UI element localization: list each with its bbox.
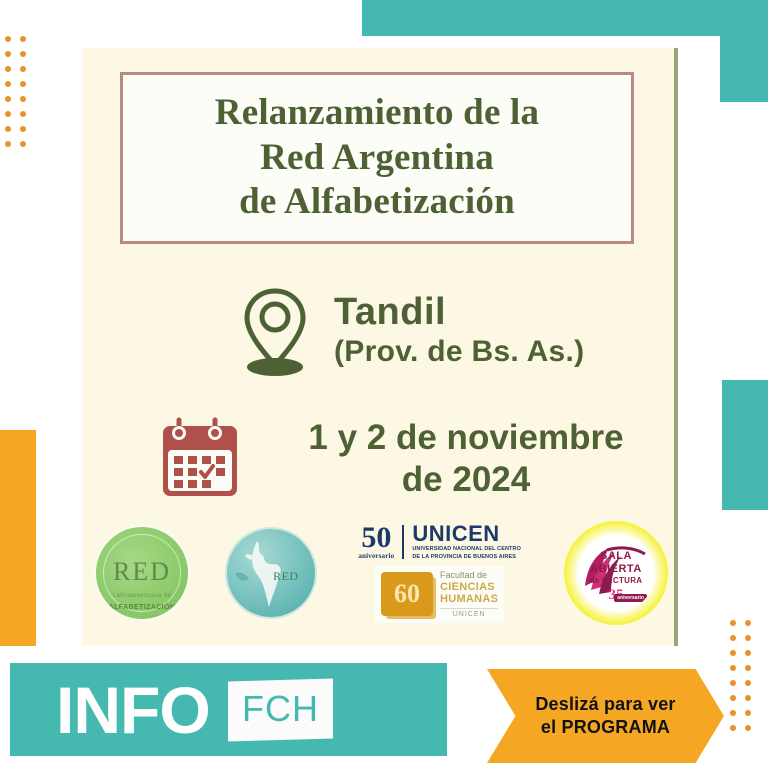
cta-line-2: el PROGRAMA (541, 716, 670, 739)
info-bar: INFO FCH (10, 663, 447, 756)
fch-line-4: UNICEN (440, 608, 498, 619)
dot (5, 81, 11, 87)
fch-60-number: 60 (381, 572, 433, 616)
sala-aniversario-label: aniversario (614, 594, 647, 602)
dot (745, 665, 751, 671)
dot (730, 650, 736, 656)
location-province: (Prov. de Bs. As.) (334, 335, 584, 370)
dot (20, 141, 26, 147)
dot (745, 650, 751, 656)
unicen-logo-row: 50 aniversario UNICEN UNIVERSIDAD NACION… (358, 523, 521, 560)
unicen-fullname-line-2: DE LA PROVINCIA DE BUENOS AIRES (412, 555, 521, 561)
dot (745, 680, 751, 686)
dot (745, 725, 751, 731)
dot (730, 620, 736, 626)
dot (730, 695, 736, 701)
location-text: Tandil (Prov. de Bs. As.) (334, 293, 584, 369)
red-logo-word: RED (96, 557, 188, 587)
dot (5, 96, 11, 102)
dot (730, 665, 736, 671)
dot (5, 111, 11, 117)
unicen-fullname-line-1: UNIVERSIDAD NACIONAL DEL CENTRO (412, 547, 521, 553)
dot (730, 635, 736, 641)
poster-canvas: Relanzamiento de la Red Argentina de Alf… (0, 0, 768, 768)
dot-grid-bottom-right (730, 620, 751, 731)
dot (20, 36, 26, 42)
fch-text: Facultad de CIENCIAS HUMANAS UNICEN (440, 570, 498, 619)
sala-line-3: de LECTURA (577, 576, 655, 585)
dot (730, 680, 736, 686)
map-pin-icon (232, 285, 318, 377)
dot (730, 710, 736, 716)
unicen-50-number: 50 (361, 524, 391, 551)
logo-strip: RED Latinoamericana de ALFABETIZACIÓN RE… (96, 510, 668, 636)
date-line-1: 1 y 2 de noviembre (260, 417, 672, 459)
calendar-icon (152, 416, 248, 502)
dot (20, 96, 26, 102)
dot-grid-top-left (5, 36, 26, 147)
date-row: 1 y 2 de noviembre de 2024 (152, 404, 672, 514)
dot (20, 66, 26, 72)
facultad-ciencias-humanas-logo: 60 Facultad de CIENCIAS HUMANAS UNICEN (375, 566, 504, 623)
dot (745, 695, 751, 701)
location-city: Tandil (334, 293, 584, 333)
dot (20, 126, 26, 132)
date-text: 1 y 2 de noviembre de 2024 (260, 417, 672, 501)
title-box: Relanzamiento de la Red Argentina de Alf… (120, 72, 634, 244)
dot (745, 620, 751, 626)
page-title-line-3: de Alfabetización (239, 180, 515, 224)
sala-logo-inner: SALA ABIERTA de LECTURA 35 aniversario (577, 534, 655, 612)
orange-left-block (0, 430, 36, 646)
dot (20, 111, 26, 117)
dot (20, 51, 26, 57)
fch-line-1: Facultad de (440, 570, 498, 580)
unicen-logo: 50 aniversario UNICEN UNIVERSIDAD NACION… (355, 523, 525, 623)
red-logo-subtitle-bottom: ALFABETIZACIÓN (96, 604, 188, 611)
teal-right-block (720, 0, 768, 102)
red-logo-subtitle-top: Latinoamericana de (96, 593, 188, 599)
sala-line-2: ABIERTA (577, 563, 655, 575)
page-title-line-1: Relanzamiento de la (215, 91, 539, 135)
dot (730, 725, 736, 731)
red-mapa-logo: RED (227, 529, 315, 617)
swipe-cta-banner[interactable]: Deslizá para ver el PROGRAMA (487, 669, 724, 763)
fch-line-3: HUMANAS (440, 593, 498, 606)
red-alfabetizacion-logo: RED Latinoamericana de ALFABETIZACIÓN (96, 527, 188, 619)
red-mapa-word: RED (273, 569, 299, 584)
unicen-aniversario-label: aniversario (358, 553, 394, 559)
unicen-name: UNICEN UNIVERSIDAD NACIONAL DEL CENTRO D… (412, 523, 521, 560)
unicen-divider (402, 525, 404, 559)
dot (5, 51, 11, 57)
info-label: INFO (56, 672, 210, 748)
cta-line-1: Deslizá para ver (535, 693, 675, 716)
fch-line-2: CIENCIAS (440, 581, 498, 594)
page-title-line-2: Red Argentina (260, 136, 494, 180)
dot (5, 126, 11, 132)
teal-top-block (362, 0, 768, 36)
dot (5, 141, 11, 147)
unicen-acronym: UNICEN (412, 523, 521, 545)
dot (745, 710, 751, 716)
fch-badge: FCH (228, 678, 333, 741)
sala-line-1: SALA (577, 550, 655, 562)
dot (5, 36, 11, 42)
date-line-2: de 2024 (260, 459, 672, 501)
location-row: Tandil (Prov. de Bs. As.) (232, 276, 652, 386)
teal-right-lower-block (722, 380, 768, 510)
unicen-anniversary: 50 aniversario (358, 524, 394, 559)
dot (745, 635, 751, 641)
dot (5, 66, 11, 72)
dot (20, 81, 26, 87)
fch-badge-label: FCH (242, 688, 319, 730)
poster-card: Relanzamiento de la Red Argentina de Alf… (82, 48, 678, 646)
sala-abierta-de-lectura-logo: SALA ABIERTA de LECTURA 35 aniversario (564, 521, 668, 625)
